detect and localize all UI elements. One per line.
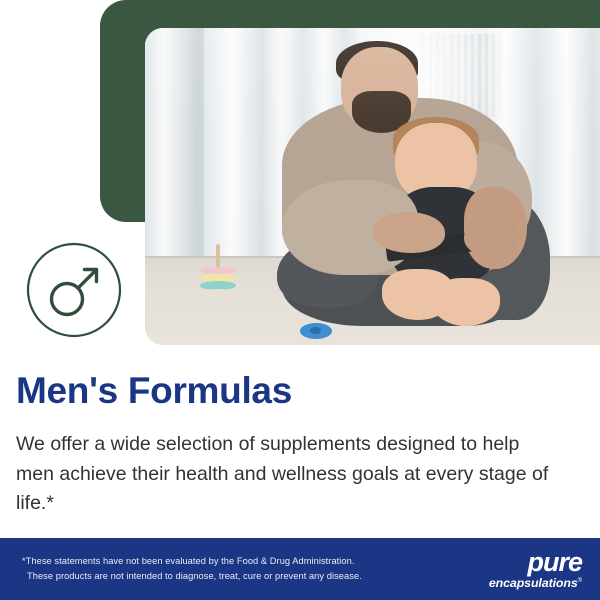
registered-trademark-icon: ®: [578, 578, 582, 584]
intro-paragraph: We offer a wide selection of supplements…: [16, 430, 561, 519]
fda-disclaimer: *These statements have not been evaluate…: [0, 554, 432, 584]
hero-image: [145, 28, 600, 345]
page-title: Men's Formulas: [16, 371, 292, 412]
ring-toy-ring-4: [200, 289, 236, 298]
footer-bar: *These statements have not been evaluate…: [0, 538, 600, 600]
pure-encapsulations-logo[interactable]: pure encapsulations®: [432, 549, 600, 589]
brand-name: pure: [432, 549, 582, 576]
brand-tagline-text: encapsulations: [489, 576, 578, 590]
father-right-hand: [464, 218, 519, 256]
male-symbol-badge: [24, 240, 124, 340]
toddler-right-leg: [432, 278, 500, 326]
brand-tagline: encapsulations®: [432, 577, 582, 589]
male-symbol-icon: [24, 240, 124, 340]
stacking-ring-toy: [200, 244, 236, 301]
marketing-banner: Men's Formulas We offer a wide selection…: [0, 0, 600, 600]
blue-round-toy: [300, 323, 332, 339]
fda-disclaimer-line-1: *These statements have not been evaluate…: [22, 556, 355, 566]
fda-disclaimer-line-2: These products are not intended to diagn…: [22, 569, 432, 584]
father-left-hand: [373, 212, 446, 253]
father-and-toddler-photo: [145, 28, 600, 345]
